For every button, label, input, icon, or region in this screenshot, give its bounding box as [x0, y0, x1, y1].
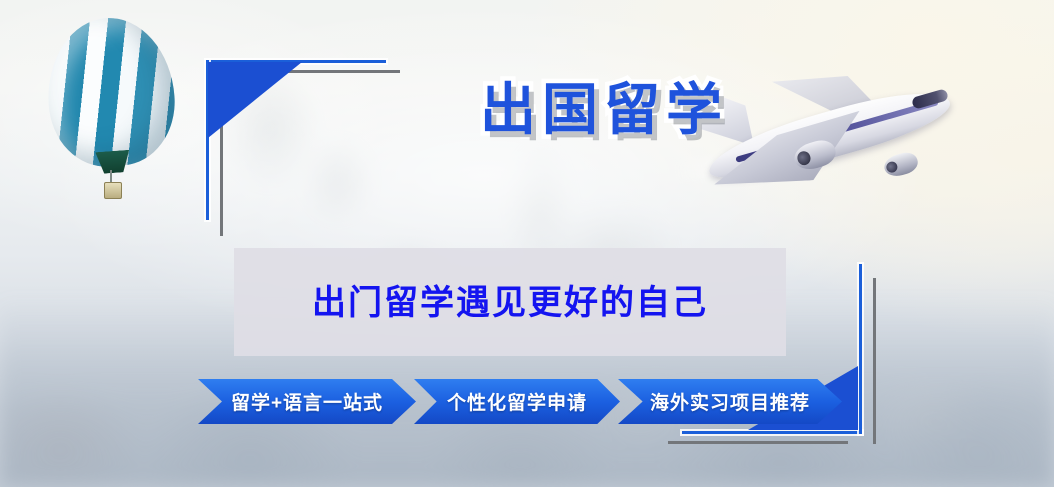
feature-badge-overseas-internship[interactable]: 海外实习项目推荐	[618, 379, 842, 424]
airplane-engine-right	[882, 150, 920, 180]
study-abroad-banner: 出门留学遇见更好的自己 出国留学 留学+语言一站式 个性化留学申请 海外实习项目…	[0, 0, 1054, 487]
feature-badge-one-stop[interactable]: 留学+语言一站式	[198, 379, 416, 424]
bracket-blue-vertical-line	[859, 264, 862, 434]
balloon-envelope	[43, 14, 179, 170]
bracket-gray-vertical-line	[873, 278, 876, 444]
hot-air-balloon-icon	[48, 18, 176, 208]
corner-bracket-top-left	[178, 40, 388, 218]
feature-badge-personalized-application[interactable]: 个性化留学申请	[414, 379, 620, 424]
bracket-blue-horizontal-line	[682, 431, 862, 434]
balloon-basket	[104, 182, 122, 199]
bracket-gray-horizontal-line	[668, 441, 848, 444]
corner-bracket-bottom-right	[676, 262, 890, 454]
balloon-skirt	[95, 150, 130, 174]
page-title: 出国留学	[480, 78, 728, 142]
